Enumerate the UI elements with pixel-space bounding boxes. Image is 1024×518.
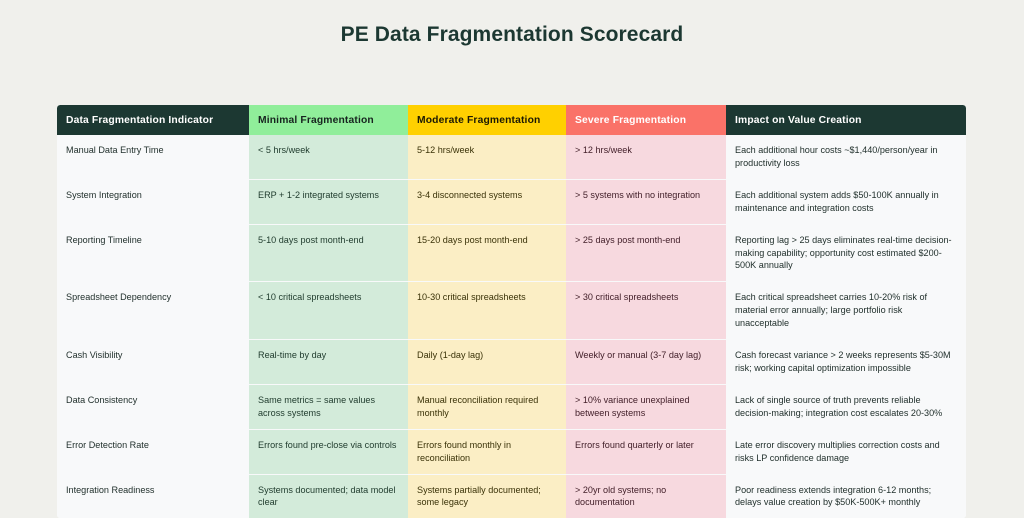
- cell-severe: Weekly or manual (3-7 day lag): [566, 340, 726, 385]
- cell-moderate: 5-12 hrs/week: [408, 135, 566, 179]
- cell-indicator: Cash Visibility: [57, 340, 249, 385]
- table-row: Cash Visibility Real-time by day Daily (…: [57, 340, 966, 385]
- cell-minimal: Errors found pre-close via controls: [249, 429, 408, 474]
- cell-severe: > 10% variance unexplained between syste…: [566, 384, 726, 429]
- cell-impact: Cash forecast variance > 2 weeks represe…: [726, 340, 966, 385]
- cell-impact: Lack of single source of truth prevents …: [726, 384, 966, 429]
- cell-severe: > 30 critical spreadsheets: [566, 282, 726, 340]
- cell-impact: Each critical spreadsheet carries 10-20%…: [726, 282, 966, 340]
- cell-minimal: < 5 hrs/week: [249, 135, 408, 179]
- cell-impact: Late error discovery multiplies correcti…: [726, 429, 966, 474]
- table-row: Data Consistency Same metrics = same val…: [57, 384, 966, 429]
- cell-minimal: Same metrics = same values across system…: [249, 384, 408, 429]
- cell-impact: Reporting lag > 25 days eliminates real-…: [726, 224, 966, 282]
- cell-severe: > 5 systems with no integration: [566, 179, 726, 224]
- table-row: Reporting Timeline 5-10 days post month-…: [57, 224, 966, 282]
- cell-severe: > 20yr old systems; no documentation: [566, 474, 726, 518]
- cell-moderate: Errors found monthly in reconciliation: [408, 429, 566, 474]
- cell-moderate: Daily (1-day lag): [408, 340, 566, 385]
- cell-indicator: Integration Readiness: [57, 474, 249, 518]
- cell-impact: Each additional system adds $50-100K ann…: [726, 179, 966, 224]
- cell-severe: Errors found quarterly or later: [566, 429, 726, 474]
- scorecard-table: Data Fragmentation Indicator Minimal Fra…: [57, 105, 966, 518]
- table-row: Error Detection Rate Errors found pre-cl…: [57, 429, 966, 474]
- cell-indicator: Manual Data Entry Time: [57, 135, 249, 179]
- column-header-impact: Impact on Value Creation: [726, 105, 966, 135]
- cell-moderate: 15-20 days post month-end: [408, 224, 566, 282]
- cell-severe: > 25 days post month-end: [566, 224, 726, 282]
- cell-impact: Poor readiness extends integration 6-12 …: [726, 474, 966, 518]
- cell-minimal: < 10 critical spreadsheets: [249, 282, 408, 340]
- scorecard-table-card: Data Fragmentation Indicator Minimal Fra…: [57, 105, 966, 518]
- cell-minimal: Real-time by day: [249, 340, 408, 385]
- column-header-indicator: Data Fragmentation Indicator: [57, 105, 249, 135]
- table-row: System Integration ERP + 1-2 integrated …: [57, 179, 966, 224]
- cell-minimal: 5-10 days post month-end: [249, 224, 408, 282]
- cell-indicator: Reporting Timeline: [57, 224, 249, 282]
- column-header-severe: Severe Fragmentation: [566, 105, 726, 135]
- cell-minimal: Systems documented; data model clear: [249, 474, 408, 518]
- cell-moderate: Systems partially documented; some legac…: [408, 474, 566, 518]
- page-title: PE Data Fragmentation Scorecard: [0, 23, 1024, 47]
- cell-moderate: 10-30 critical spreadsheets: [408, 282, 566, 340]
- cell-minimal: ERP + 1-2 integrated systems: [249, 179, 408, 224]
- table-row: Manual Data Entry Time < 5 hrs/week 5-12…: [57, 135, 966, 179]
- table-body: Manual Data Entry Time < 5 hrs/week 5-12…: [57, 135, 966, 518]
- column-header-minimal: Minimal Fragmentation: [249, 105, 408, 135]
- table-row: Spreadsheet Dependency < 10 critical spr…: [57, 282, 966, 340]
- table-header-row: Data Fragmentation Indicator Minimal Fra…: [57, 105, 966, 135]
- cell-indicator: Data Consistency: [57, 384, 249, 429]
- cell-moderate: 3-4 disconnected systems: [408, 179, 566, 224]
- cell-moderate: Manual reconciliation required monthly: [408, 384, 566, 429]
- cell-indicator: System Integration: [57, 179, 249, 224]
- cell-indicator: Error Detection Rate: [57, 429, 249, 474]
- column-header-moderate: Moderate Fragmentation: [408, 105, 566, 135]
- cell-impact: Each additional hour costs ~$1,440/perso…: [726, 135, 966, 179]
- cell-severe: > 12 hrs/week: [566, 135, 726, 179]
- scorecard-page: PE Data Fragmentation Scorecard Data Fra…: [0, 0, 1024, 512]
- cell-indicator: Spreadsheet Dependency: [57, 282, 249, 340]
- table-header: Data Fragmentation Indicator Minimal Fra…: [57, 105, 966, 135]
- table-row: Integration Readiness Systems documented…: [57, 474, 966, 518]
